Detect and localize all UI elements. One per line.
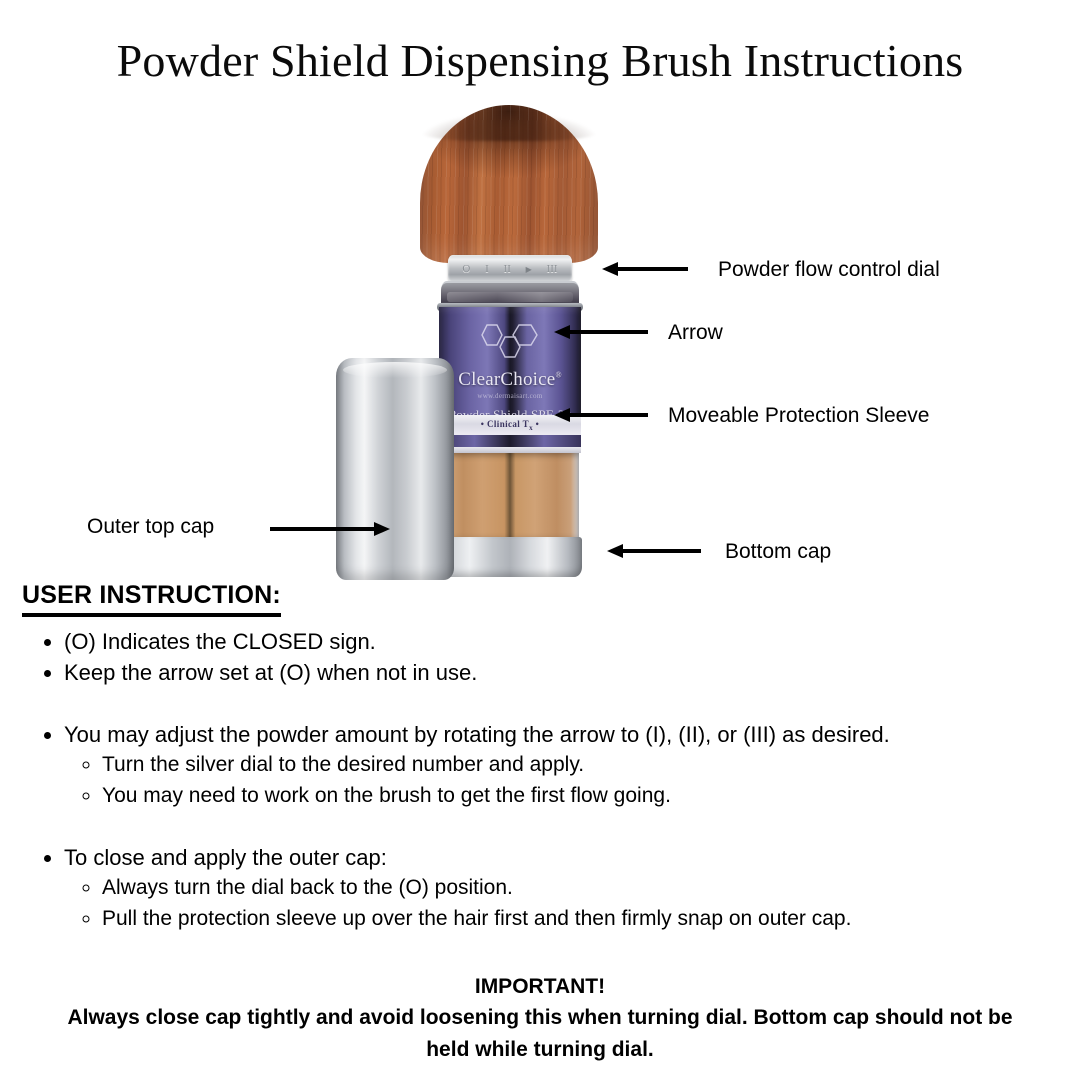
callout-arrow-bottom-cap — [605, 537, 703, 565]
list-item: Pull the protection sleeve up over the h… — [102, 904, 1062, 934]
important-footer: IMPORTANT! Always close cap tightly and … — [22, 972, 1058, 1065]
list-item-text: You may adjust the powder amount by rota… — [64, 722, 890, 747]
list-item: Keep the arrow set at (O) when not in us… — [64, 657, 1062, 688]
user-instructions-section: USER INSTRUCTION: (O) Indicates the CLOS… — [22, 582, 1062, 934]
callout-label-outer-top-cap: Outer top cap — [87, 516, 214, 537]
brand-name: ClearChoice® — [439, 369, 581, 391]
list-item: Turn the silver dial to the desired numb… — [102, 750, 1062, 780]
instruction-list-group-2: You may adjust the powder amount by rota… — [22, 719, 1062, 811]
bottom-cap — [438, 537, 582, 577]
callout-label-moveable-protection-sleeve: Moveable Protection Sleeve — [668, 405, 930, 426]
important-line-1: Always close cap tightly and avoid loose… — [22, 1002, 1058, 1033]
dial-mark-iii: III — [547, 264, 558, 275]
callout-arrow-arrow — [552, 318, 650, 346]
ribbon-text: • Clinical Tx • — [481, 419, 539, 432]
user-instruction-heading: USER INSTRUCTION: — [22, 582, 281, 617]
callout-arrow-moveable-protection-sleeve — [552, 401, 650, 429]
dial-mark-i: I — [485, 264, 489, 275]
callout-arrow-outer-top-cap — [270, 515, 392, 543]
brush-fringe — [420, 101, 598, 141]
hexagon-logo-icon — [467, 321, 553, 367]
important-title: IMPORTANT! — [22, 972, 1058, 1002]
brand-name-text: ClearChoice — [458, 369, 555, 390]
list-item: You may adjust the powder amount by rota… — [64, 719, 1062, 811]
dial-mark-ii: II — [504, 264, 511, 275]
ribbon-lower-band — [439, 435, 581, 447]
list-group-spacer — [22, 811, 1062, 833]
instruction-sublist-group-3: Always turn the dial back to the (O) pos… — [64, 873, 1062, 934]
important-line-2: held while turning dial. — [22, 1034, 1058, 1065]
list-group-spacer — [22, 688, 1062, 710]
ribbon-text-end: • — [533, 419, 539, 429]
instruction-list-group-3: To close and apply the outer cap: Always… — [22, 842, 1062, 934]
callout-arrow-powder-flow-control-dial — [600, 255, 690, 283]
list-item: (O) Indicates the CLOSED sign. — [64, 626, 1062, 657]
callout-label-bottom-cap: Bottom cap — [725, 541, 831, 562]
list-item: You may need to work on the brush to get… — [102, 781, 1062, 811]
callout-label-arrow: Arrow — [668, 322, 723, 343]
powder-flow-control-dial[interactable]: O I II ▶ III — [448, 255, 572, 283]
list-item: Always turn the dial back to the (O) pos… — [102, 873, 1062, 903]
ribbon-text-main: • Clinical T — [481, 419, 529, 429]
powder-window — [441, 453, 579, 541]
page-title: Powder Shield Dispensing Brush Instructi… — [0, 34, 1080, 87]
instruction-sublist-group-2: Turn the silver dial to the desired numb… — [64, 750, 1062, 811]
brand-url: www.dermaisart.com — [439, 392, 581, 400]
list-item: To close and apply the outer cap: Always… — [64, 842, 1062, 934]
registered-mark-icon: ® — [555, 371, 561, 380]
callout-label-powder-flow-control-dial: Powder flow control dial — [718, 259, 940, 280]
dial-mark-o: O — [462, 264, 470, 275]
dial-pointer-arrow-icon: ▶ — [526, 265, 532, 274]
outer-top-cap[interactable] — [336, 358, 454, 580]
list-item-text: To close and apply the outer cap: — [64, 845, 387, 870]
instruction-list-group-1: (O) Indicates the CLOSED sign. Keep the … — [22, 626, 1062, 688]
